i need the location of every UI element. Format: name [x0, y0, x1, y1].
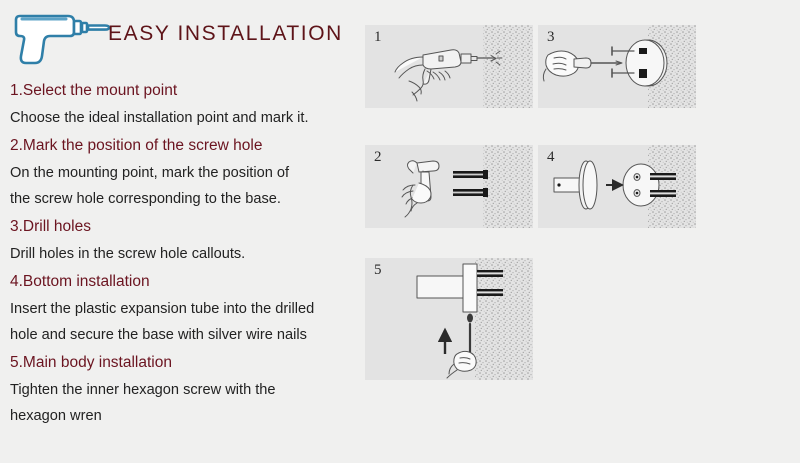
step-body-line: Insert the plastic expansion tube into t… [10, 296, 358, 322]
panel-step-5: 5 [365, 258, 533, 380]
panel-step-4: 4 [538, 145, 696, 228]
step-item-2: 2.Mark the position of the screw hole On… [10, 133, 358, 212]
panel-number: 4 [547, 149, 555, 166]
step-body-line: hole and secure the base with silver wir… [10, 322, 358, 348]
panel-number: 5 [374, 262, 382, 279]
hex-wrench-tighten-fixture-illustration [365, 258, 533, 380]
steps-list: 1.Select the mount point Choose the idea… [10, 78, 358, 431]
header-row: EASY INSTALLATION [8, 10, 352, 68]
step-heading: 4.Bottom installation [10, 269, 358, 295]
hand-screwdriver-base-plate-illustration [538, 25, 696, 108]
step-body: Choose the ideal installation point and … [10, 105, 358, 131]
step-heading: 2.Mark the position of the screw hole [10, 133, 358, 159]
step-body-line: Choose the ideal installation point and … [10, 105, 358, 131]
step-body-line: Tighten the inner hexagon screw with the [10, 377, 358, 403]
drill-icon [10, 10, 114, 68]
step-body: Drill holes in the screw hole callouts. [10, 241, 358, 267]
step-item-1: 1.Select the mount point Choose the idea… [10, 78, 358, 131]
installation-instructions-graphic: EASY INSTALLATION 1.Select the mount poi… [0, 0, 800, 463]
step-item-3: 3.Drill holes Drill holes in the screw h… [10, 214, 358, 267]
panel-step-1: 1 [365, 25, 533, 108]
panel-step-3: 3 [538, 25, 696, 108]
panel-step-2: 2 [365, 145, 533, 228]
step-body-line: On the mounting point, mark the position… [10, 160, 358, 186]
hand-hammer-with-nails-illustration [365, 145, 533, 228]
page-title: EASY INSTALLATION [108, 22, 343, 46]
step-body: On the mounting point, mark the position… [10, 160, 358, 212]
step-item-4: 4.Bottom installation Insert the plastic… [10, 269, 358, 348]
step-body-line: Drill holes in the screw hole callouts. [10, 241, 358, 267]
knob-arrow-mounted-base-illustration [538, 145, 696, 228]
step-body: Insert the plastic expansion tube into t… [10, 296, 358, 348]
step-heading: 5.Main body installation [10, 350, 358, 376]
instructions-text-column: EASY INSTALLATION 1.Select the mount poi… [0, 0, 358, 463]
step-body-line: the screw hole corresponding to the base… [10, 186, 358, 212]
hand-drilling-wall-illustration [365, 25, 533, 108]
step-body-line: hexagon wren [10, 403, 358, 429]
panel-number: 1 [374, 29, 382, 46]
panel-number: 3 [547, 29, 555, 46]
step-item-5: 5.Main body installation Tighten the inn… [10, 350, 358, 429]
panel-number: 2 [374, 149, 382, 166]
step-heading: 3.Drill holes [10, 214, 358, 240]
step-body: Tighten the inner hexagon screw with the… [10, 377, 358, 429]
step-heading: 1.Select the mount point [10, 78, 358, 104]
